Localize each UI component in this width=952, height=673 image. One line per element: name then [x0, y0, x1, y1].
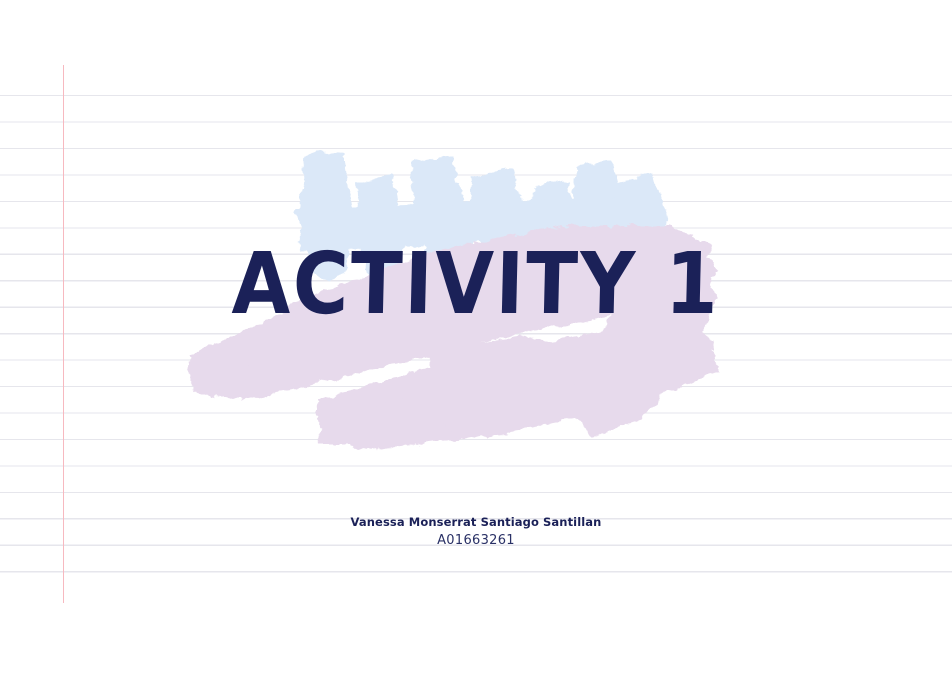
author-block: Vanessa Monserrat Santiago Santillan A01…	[0, 515, 952, 551]
page-title: ACTIVITY 1	[0, 246, 952, 322]
author-id: A01663261	[0, 531, 952, 552]
ruled-paper-lines	[0, 95, 952, 576]
brush-stroke-artwork	[0, 0, 952, 673]
presentation-slide: ACTIVITY 1 Vanessa Monserrat Santiago Sa…	[0, 0, 952, 673]
author-name: Vanessa Monserrat Santiago Santillan	[0, 515, 952, 531]
title-text: ACTIVITY 1	[231, 241, 721, 326]
